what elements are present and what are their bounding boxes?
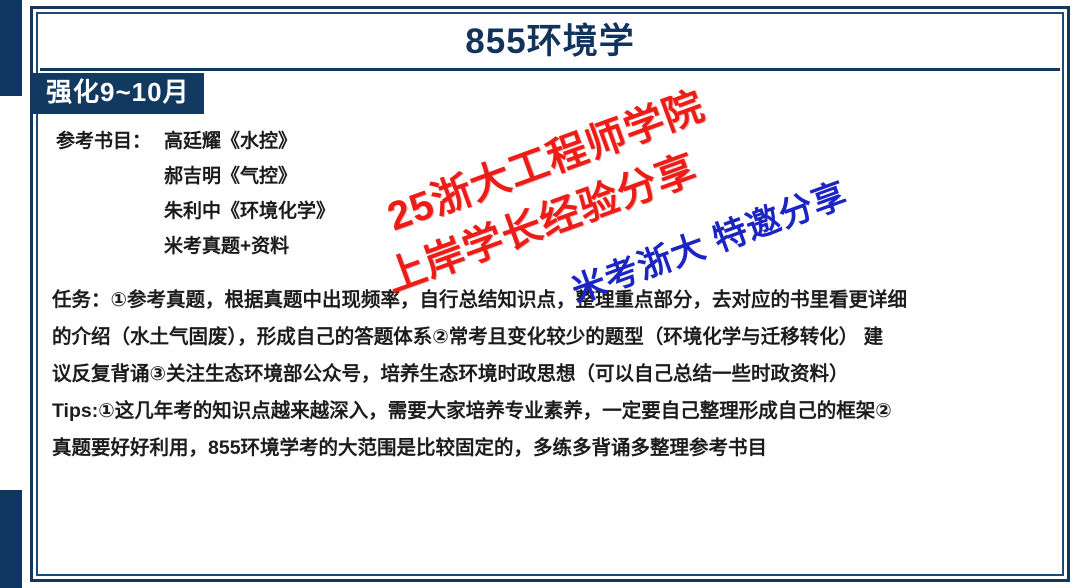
tips-line: Tips:①这几年考的知识点越来越深入，需要大家培养专业素养，一定要自己整理形成… bbox=[52, 393, 1012, 430]
page-title: 855环境学 bbox=[40, 10, 1060, 66]
book-title: 高廷耀《水控》 bbox=[164, 132, 297, 151]
reference-books-label: 参考书目： bbox=[56, 132, 164, 151]
title-divider bbox=[40, 68, 1060, 71]
book-title: 米考真题+资料 bbox=[164, 237, 289, 256]
slide-body-text: 任务：①参考真题，根据真题中出现频率，自行总结知识点，整理重点部分，去对应的书里… bbox=[52, 282, 1012, 467]
left-accent-bar-bottom bbox=[0, 490, 22, 588]
tasks-line: 任务：①参考真题，根据真题中出现频率，自行总结知识点，整理重点部分，去对应的书里… bbox=[52, 282, 1012, 319]
book-title: 朱利中《环境化学》 bbox=[164, 202, 335, 221]
tasks-line: 的介绍（水土气固废），形成自己的答题体系②常考且变化较少的题型（环境化学与迁移转… bbox=[52, 319, 1012, 356]
left-white-rail bbox=[22, 0, 30, 588]
book-title: 郝吉明《气控》 bbox=[164, 167, 297, 186]
reference-book-list: 参考书目： 高廷耀《水控》 参考书目： 郝吉明《气控》 参考书目： 朱利中《环境… bbox=[56, 132, 616, 272]
tips-paragraph: Tips:①这几年考的知识点越来越深入，需要大家培养专业素养，一定要自己整理形成… bbox=[52, 393, 1012, 467]
page-title-text: 855环境学 bbox=[465, 13, 634, 64]
tips-line: 真题要好好利用，855环境学考的大范围是比较固定的，多练多背诵多整理参考书目 bbox=[52, 430, 1012, 467]
status-badge: 强化9~10月 bbox=[32, 73, 204, 114]
list-item: 参考书目： 米考真题+资料 bbox=[56, 237, 616, 256]
tasks-paragraph: 任务：①参考真题，根据真题中出现频率，自行总结知识点，整理重点部分，去对应的书里… bbox=[52, 282, 1012, 393]
slide-canvas: 855环境学 强化9~10月 参考书目： 高廷耀《水控》 参考书目： 郝吉明《气… bbox=[0, 0, 1080, 588]
tasks-line: 议反复背诵③关注生态环境部公众号，培养生态环境时政思想（可以自己总结一些时政资料… bbox=[52, 356, 1012, 393]
list-item: 参考书目： 高廷耀《水控》 bbox=[56, 132, 616, 151]
left-accent-bar-top bbox=[0, 0, 22, 96]
list-item: 参考书目： 郝吉明《气控》 bbox=[56, 167, 616, 186]
list-item: 参考书目： 朱利中《环境化学》 bbox=[56, 202, 616, 221]
